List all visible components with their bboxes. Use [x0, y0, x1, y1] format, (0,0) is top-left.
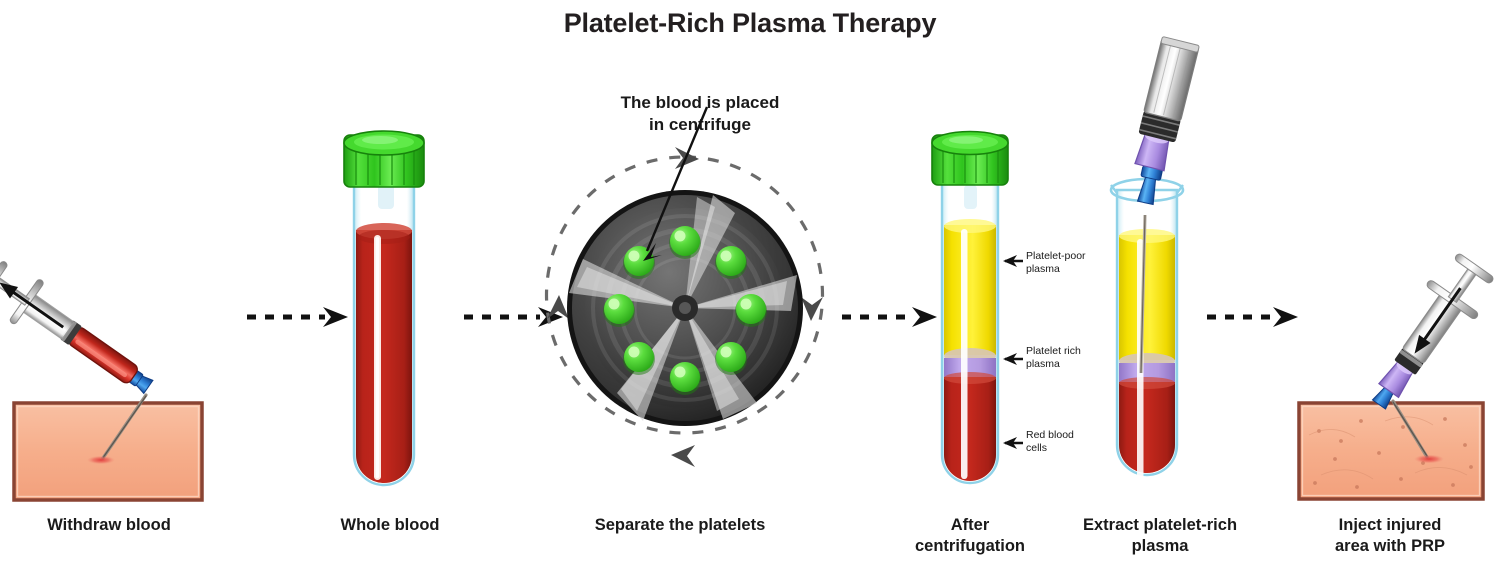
caption-inject-prp: Inject injured area with PRP — [1290, 515, 1490, 556]
layer-pointer-platelet-rich-plasma — [995, 348, 1025, 370]
illustration-whole-blood — [330, 125, 450, 500]
caption-withdraw-blood: Withdraw blood — [0, 515, 218, 536]
caption-line-2: plasma — [1045, 536, 1275, 557]
caption-whole-blood: Whole blood — [285, 515, 495, 536]
caption-line-1: Separate the platelets — [555, 515, 805, 536]
caption-line-1: After — [880, 515, 1060, 536]
illustration-inject-prp — [1275, 235, 1500, 510]
caption-line-1: Inject injured — [1290, 515, 1490, 536]
layer-pointer-platelet-poor-plasma — [995, 250, 1025, 272]
caption-line-2: centrifugation — [880, 536, 1060, 557]
caption-line-1: Extract platelet-rich — [1045, 515, 1275, 536]
illustration-centrifuge — [525, 135, 845, 480]
annotation-line-1: The blood is placed — [575, 92, 825, 114]
infographic-canvas: Platelet-Rich Plasma Therapy — [0, 0, 1500, 576]
caption-after-centrifugation: After centrifugation — [880, 515, 1060, 556]
layer-pointer-red-blood-cells — [995, 432, 1025, 454]
caption-line-2: area with PRP — [1290, 536, 1490, 557]
syringe-withdraw — [0, 255, 163, 408]
tube-cap-green-after-centrifugation — [932, 132, 1008, 186]
caption-extract-prp: Extract platelet-rich plasma — [1045, 515, 1275, 556]
layer-red-blood-cells — [944, 377, 996, 487]
tube-cap-green-whole-blood — [344, 131, 424, 187]
whole-blood-fill — [356, 223, 412, 485]
page-title: Platelet-Rich Plasma Therapy — [0, 8, 1500, 39]
skin-patch-inject — [1299, 403, 1483, 499]
caption-line-1: Withdraw blood — [0, 515, 218, 536]
centrifuge-annotation-text: The blood is placed in centrifuge — [575, 92, 825, 136]
syringe-extract-prp — [1131, 36, 1199, 171]
tube-highlight-stripe — [961, 229, 968, 479]
illustration-withdraw-blood — [0, 190, 230, 510]
caption-separate-platelets: Separate the platelets — [555, 515, 805, 536]
illustration-extract-prp — [1095, 25, 1225, 505]
syringe-inject-prp — [1354, 248, 1500, 422]
caption-line-1: Whole blood — [285, 515, 495, 536]
layer-platelet-poor-plasma — [944, 225, 996, 355]
